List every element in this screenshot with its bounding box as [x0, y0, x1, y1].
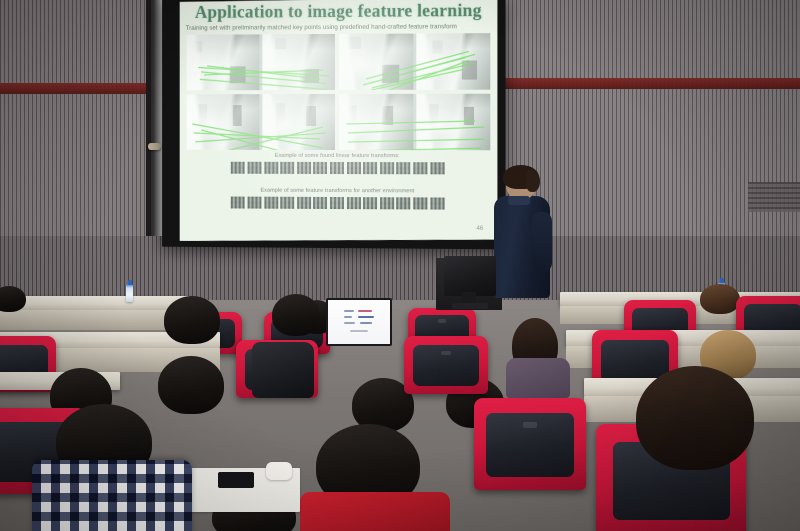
corridor-photo [187, 34, 259, 90]
corridor-photo [339, 34, 413, 90]
feature-thumbnail [347, 197, 361, 209]
laptop-lid [326, 298, 392, 346]
corridor-photo [262, 34, 335, 90]
feature-thumbnail [347, 162, 361, 174]
person-head [158, 356, 224, 414]
feature-transform-row-2 [180, 196, 498, 210]
slide-title: Application to image feature learning [180, 0, 498, 23]
image-pair-bottom-right [339, 94, 490, 151]
person-head [636, 366, 754, 470]
feature-thumbnail [330, 162, 344, 174]
backpack [252, 342, 314, 398]
feature-thumbnail [380, 162, 394, 174]
water-bottle [126, 284, 133, 302]
projection-screen-frame: Application to image feature learning Tr… [162, 0, 506, 249]
monitor-base [452, 303, 488, 309]
person-head [272, 294, 320, 336]
presenter-hair-side [526, 170, 540, 192]
feature-thumbnail [280, 197, 294, 209]
chair-notch [438, 319, 446, 322]
red-jacket [300, 492, 450, 531]
wall-stripe-right [492, 78, 800, 89]
feature-thumbnail [264, 197, 278, 209]
tissue [266, 462, 292, 480]
feature-thumbnail [297, 197, 311, 209]
corridor-photo [262, 94, 335, 150]
slide-caption-1: Example of some found linear feature tra… [180, 153, 498, 160]
feature-thumbnail [380, 197, 394, 209]
feature-thumbnail [413, 162, 427, 174]
feature-thumbnail [413, 197, 427, 209]
corridor-photo [187, 94, 259, 150]
image-pair-top-left [187, 34, 335, 90]
slide-caption-2: Example of some feature transforms for a… [180, 187, 498, 194]
feature-thumbnail [430, 197, 444, 209]
slide-subtitle: Training set with preliminarily matched … [186, 23, 494, 32]
projection-screen: Application to image feature learning Tr… [180, 0, 498, 243]
feature-thumbnail [280, 162, 294, 174]
phone [218, 472, 254, 488]
feature-thumbnail [330, 197, 344, 209]
laptop-screen [328, 300, 390, 344]
presentation-slide: Application to image feature learning Tr… [180, 0, 498, 243]
feature-thumbnail [264, 162, 278, 174]
feature-thumbnail [313, 162, 327, 174]
person-head [700, 284, 740, 314]
corridor-photo [339, 94, 413, 150]
feature-thumbnail [363, 197, 377, 209]
wall-vent [748, 182, 800, 212]
corridor-photo [416, 33, 490, 90]
person-head [164, 296, 220, 344]
chair [474, 398, 586, 490]
feature-transform-row-1 [180, 162, 498, 175]
audience-member [164, 296, 220, 344]
presenter-collar [508, 196, 530, 205]
image-pair-top-right [339, 33, 490, 90]
feature-thumbnail [430, 162, 444, 174]
feature-thumbnail [231, 162, 245, 174]
lecture-hall-photo: Application to image feature learning Tr… [0, 0, 800, 531]
laptop[interactable] [326, 298, 392, 346]
desk-back-left-front [0, 310, 190, 330]
audience-member [700, 284, 740, 314]
podium-monitor [444, 256, 496, 296]
feature-thumbnail [397, 162, 411, 174]
audience-member [636, 366, 754, 470]
image-pair-grid [187, 33, 491, 150]
corridor-photo [416, 94, 490, 151]
desk-back-left [0, 296, 190, 310]
chair-notch [441, 351, 451, 355]
person-head [0, 286, 26, 312]
feature-thumbnail [248, 197, 262, 209]
feature-thumbnail [313, 197, 327, 209]
presenter-arm [532, 212, 552, 272]
audience-member [0, 286, 26, 312]
feature-thumbnail [231, 197, 245, 209]
chair [404, 336, 488, 394]
audience-member [158, 356, 224, 414]
slide-number: 46 [476, 226, 483, 232]
image-pair-bottom-left [187, 94, 335, 150]
feature-thumbnail [248, 162, 262, 174]
presenter [488, 168, 560, 298]
plaid-shirt [32, 460, 192, 531]
chair-notch [523, 422, 536, 428]
audience-member [272, 294, 320, 336]
feature-thumbnail [297, 162, 311, 174]
feature-thumbnail [363, 162, 377, 174]
person-jacket [506, 358, 570, 398]
door-handle-icon [148, 143, 161, 150]
feature-thumbnail [397, 197, 411, 209]
